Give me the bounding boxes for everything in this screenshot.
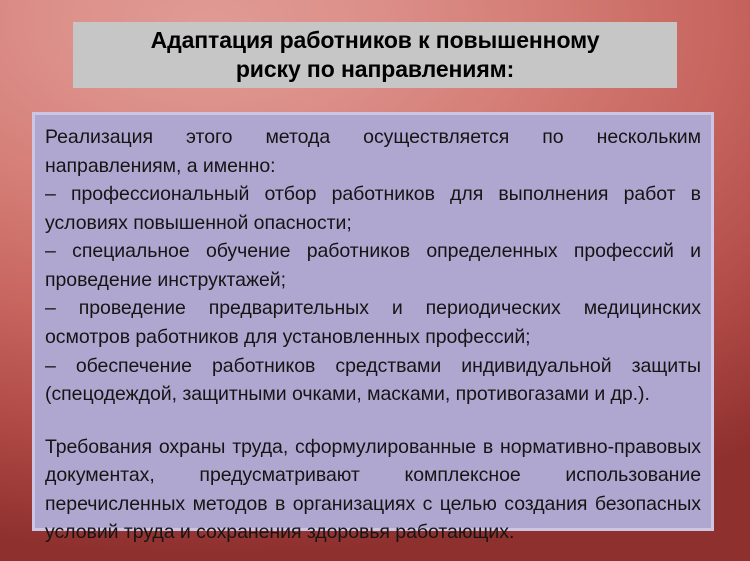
body-paragraph-bullet-4: – обеспечение работников средствами инди… — [45, 352, 701, 409]
body-paragraph-bullet-3: – проведение предварительных и периодиче… — [45, 294, 701, 351]
page-title: Адаптация работников к повышенному риску… — [73, 26, 677, 85]
body-content-plate: Реализация этого метода осуществляется п… — [32, 112, 714, 531]
body-paragraph-bullet-1: – профессиональный отбор работников для … — [45, 180, 701, 237]
body-paragraph-conclusion: Требования охраны труда, сформулированны… — [45, 433, 701, 547]
title-plate: Адаптация работников к повышенному риску… — [73, 22, 677, 88]
slide-canvas: Адаптация работников к повышенному риску… — [0, 0, 750, 561]
paragraph-spacer — [45, 409, 701, 433]
body-text-block: Реализация этого метода осуществляется п… — [45, 123, 701, 518]
body-paragraph-bullet-2: – специальное обучение работников опреде… — [45, 237, 701, 294]
body-paragraph-intro: Реализация этого метода осуществляется п… — [45, 123, 701, 180]
